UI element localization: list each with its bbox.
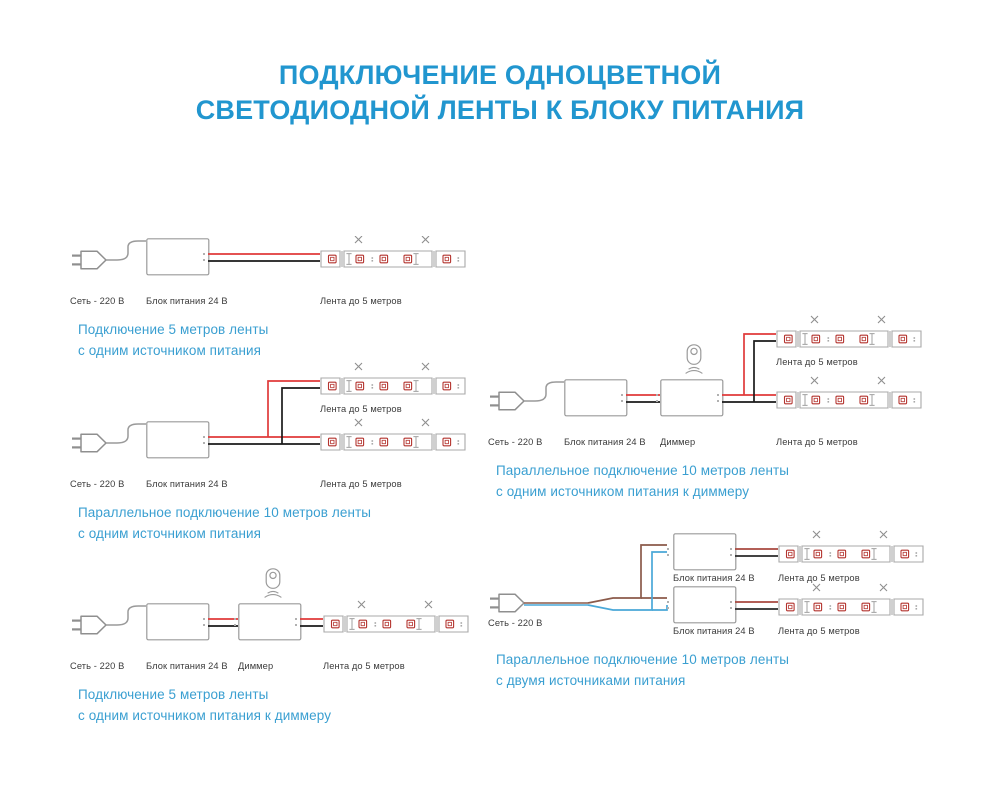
label-dimmer: Диммер (660, 437, 695, 447)
led-strip-lower (321, 434, 465, 450)
led-strip-lower (779, 599, 923, 615)
caption-line-2: с одним источником питания (78, 341, 268, 362)
caption-line-1: Параллельное подключение 10 метров ленты (496, 650, 789, 671)
caption-line-2: с одним источником питания к диммеру (496, 482, 789, 503)
caption-line-2: с одним источником питания (78, 524, 371, 545)
psu-box (147, 239, 209, 275)
psu-box-lower (674, 587, 736, 623)
psu-box-upper (674, 534, 736, 570)
caption-line-2: с двумя источниками питания (496, 671, 789, 692)
label-strip-upper: Лента до 5 метров (776, 357, 858, 367)
caption-diagram-4: Параллельное подключение 10 метров ленты… (496, 461, 789, 503)
caption-diagram-5: Параллельное подключение 10 метров ленты… (496, 650, 789, 692)
label-strip: Лента до 5 метров (320, 296, 402, 306)
diagram-page: ПОДКЛЮЧЕНИЕ ОДНОЦВЕТНОЙ СВЕТОДИОДНОЙ ЛЕН… (0, 0, 1000, 800)
page-title-line-2: СВЕТОДИОДНОЙ ЛЕНТЫ К БЛОКУ ПИТАНИЯ (0, 93, 1000, 128)
caption-line-1: Параллельное подключение 10 метров ленты (78, 503, 371, 524)
label-strip-upper: Лента до 5 метров (778, 573, 860, 583)
led-strip-upper (777, 331, 921, 347)
caption-line-1: Подключение 5 метров ленты (78, 685, 331, 706)
mains-plug-icon (490, 392, 524, 410)
caption-line-1: Подключение 5 метров ленты (78, 320, 268, 341)
label-psu: Блок питания 24 В (146, 661, 228, 671)
label-mains: Сеть - 220 В (70, 661, 124, 671)
label-psu-upper: Блок питания 24 В (673, 573, 755, 583)
psu-box (147, 604, 209, 640)
psu-box (565, 380, 627, 416)
mains-plug-icon (72, 251, 106, 269)
label-dimmer: Диммер (238, 661, 273, 671)
caption-diagram-1: Подключение 5 метров ленты с одним источ… (78, 320, 268, 362)
diagram-single-strip-single-psu: Сеть - 220 В Блок питания 24 В Лента до … (70, 236, 490, 346)
caption-diagram-3: Подключение 5 метров ленты с одним источ… (78, 685, 331, 727)
led-strip (324, 616, 468, 632)
label-psu: Блок питания 24 В (564, 437, 646, 447)
diagram-parallel-10m-dimmer: Лента до 5 метров Сеть - 220 В Блок пита… (488, 315, 938, 470)
remote-control-icon (686, 345, 703, 374)
label-strip-upper: Лента до 5 метров (320, 404, 402, 414)
page-title: ПОДКЛЮЧЕНИЕ ОДНОЦВЕТНОЙ СВЕТОДИОДНОЙ ЛЕН… (0, 58, 1000, 127)
label-psu: Блок питания 24 В (146, 479, 228, 489)
caption-diagram-2: Параллельное подключение 10 метров ленты… (78, 503, 371, 545)
page-title-line-1: ПОДКЛЮЧЕНИЕ ОДНОЦВЕТНОЙ (0, 58, 1000, 93)
mains-plug-icon (72, 616, 106, 634)
led-strip-upper (321, 378, 465, 394)
label-mains: Сеть - 220 В (488, 437, 542, 447)
caption-line-1: Параллельное подключение 10 метров ленты (496, 461, 789, 482)
label-mains: Сеть - 220 В (70, 479, 124, 489)
led-strip (321, 251, 465, 267)
mains-plug-icon (490, 594, 524, 612)
label-strip: Лента до 5 метров (323, 661, 405, 671)
diagram-parallel-10m-single-psu: Лента до 5 метров Сеть - 220 В Блок пита… (70, 360, 500, 510)
psu-box (147, 422, 209, 458)
diagram-parallel-10m-two-psu: Блок питания 24 В Лента до 5 метров Сеть… (488, 525, 938, 675)
label-psu-lower: Блок питания 24 В (673, 626, 755, 636)
label-psu: Блок питания 24 В (146, 296, 228, 306)
label-mains: Сеть - 220 В (70, 296, 124, 306)
dimmer-box (239, 604, 301, 640)
caption-line-2: с одним источником питания к диммеру (78, 706, 331, 727)
label-mains: Сеть - 220 В (488, 618, 542, 628)
label-strip-lower: Лента до 5 метров (776, 437, 858, 447)
dimmer-box (661, 380, 723, 416)
led-strip-lower (777, 392, 921, 408)
remote-control-icon (265, 569, 282, 598)
mains-plug-icon (72, 434, 106, 452)
label-strip-lower: Лента до 5 метров (778, 626, 860, 636)
label-strip-lower: Лента до 5 метров (320, 479, 402, 489)
diagram-single-strip-dimmer: Сеть - 220 В Блок питания 24 В Диммер Ле… (70, 565, 510, 695)
led-strip-upper (779, 546, 923, 562)
